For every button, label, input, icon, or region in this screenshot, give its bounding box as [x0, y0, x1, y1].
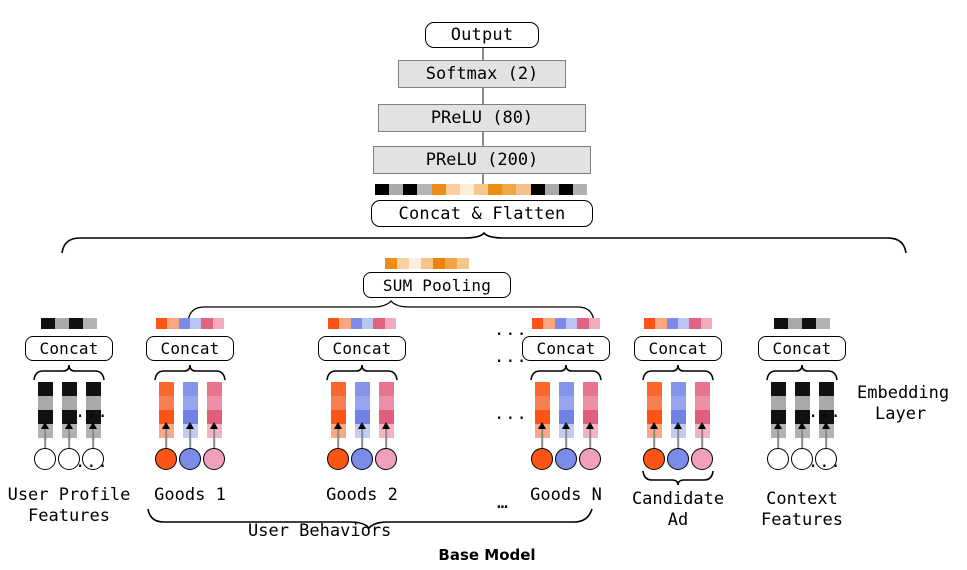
context-features-concat-seg-3	[816, 318, 830, 329]
user-profile-caption-line-1: Features	[0, 506, 159, 527]
context-features-embedding-2-cell-0	[819, 382, 834, 396]
goods-1-caption-line-0: Goods 1	[100, 485, 280, 506]
goods-1-embedding-1-cell-1	[183, 396, 198, 410]
concat-flatten-node[interactable]: Concat & Flatten	[371, 200, 593, 227]
goods-2-feature-node-0[interactable]	[327, 448, 349, 470]
concat-flatten-seg-3	[417, 184, 431, 195]
goods-1-feature-node-1[interactable]	[179, 448, 201, 470]
concat-flatten-vector	[375, 184, 587, 195]
goods-n-concat-label: Concat	[537, 339, 596, 358]
user-profile-embedding-2-cell-0	[86, 382, 101, 396]
goods-n-concat-seg-5	[589, 318, 600, 329]
concat-flatten-seg-9	[502, 184, 516, 195]
goods-n-embedding-2-cell-1	[583, 396, 598, 410]
goods-2-caption-line-0: Goods 2	[272, 485, 452, 506]
goods-2-embedding-0-cell-1	[331, 396, 346, 410]
goods-1-concat-seg-3	[190, 318, 201, 329]
candidate-ad-concat-vector	[644, 318, 712, 329]
ellipsis-emb-goodsN: ...	[494, 406, 528, 423]
goods-2-feature-node-2[interactable]	[375, 448, 397, 470]
diagram-canvas: Output Softmax (2) PReLU (80) PReLU (200…	[0, 0, 967, 570]
layer-prelu-80[interactable]: PReLU (80)	[378, 104, 586, 132]
goods-2-feature-node-1[interactable]	[351, 448, 373, 470]
diagram-title: Base Model	[387, 545, 587, 566]
goods-2-concat-seg-2	[351, 318, 362, 329]
context-features-feature-node-0[interactable]	[767, 448, 789, 470]
candidate-ad-embedding-1-cell-0	[671, 382, 686, 396]
output-label: Output	[451, 25, 514, 45]
context-features-concat-seg-1	[788, 318, 802, 329]
goods-1-concat-seg-2	[179, 318, 190, 329]
sum-pooling-seg-3	[421, 258, 433, 269]
candidate-ad-concat-seg-2	[667, 318, 678, 329]
concat-flatten-seg-12	[545, 184, 559, 195]
goods-2-concat-seg-4	[373, 318, 384, 329]
goods-2-embedding-0-cell-0	[331, 382, 346, 396]
concat-flatten-seg-14	[573, 184, 587, 195]
context-features-concat-label: Concat	[773, 339, 832, 358]
goods-1-concat-seg-0	[156, 318, 167, 329]
goods-2-embedding-2-cell-1	[379, 396, 394, 410]
candidate-ad-feature-node-2[interactable]	[691, 448, 713, 470]
candidate-ad-embedding-0-cell-0	[647, 382, 662, 396]
concat-flatten-seg-13	[559, 184, 573, 195]
user-profile-brace	[32, 363, 106, 381]
context-features-embedding-0-cell-0	[771, 382, 786, 396]
layer-softmax-label: Softmax (2)	[426, 64, 539, 84]
sum-pooling-seg-4	[433, 258, 445, 269]
candidate-ad-concat-seg-3	[678, 318, 689, 329]
concat-flatten-seg-1	[389, 184, 403, 195]
sum-pooling-label: SUM Pooling	[383, 276, 491, 295]
goods-1-embedding-2-cell-0	[207, 382, 222, 396]
goods-2-embedding-1-cell-0	[355, 382, 370, 396]
goods-1-brace	[153, 363, 227, 381]
goods-n-embedding-1-cell-1	[559, 396, 574, 410]
goods-n-embedding-0-cell-0	[535, 382, 550, 396]
ellipsis-top-goodsN: ...	[494, 322, 528, 339]
context-features-inner-ellipsis-embedding: ...	[808, 404, 842, 421]
goods-n-concat-seg-3	[566, 318, 577, 329]
candidate-ad-embedding-1-cell-1	[671, 396, 686, 410]
user-profile-feature-node-0[interactable]	[34, 448, 56, 470]
layer-prelu-200-label: PReLU (200)	[426, 150, 539, 170]
layer-softmax[interactable]: Softmax (2)	[398, 60, 566, 88]
connector-output-softmax	[482, 46, 484, 60]
context-features-concat-seg-2	[802, 318, 816, 329]
goods-n-concat-vector	[532, 318, 600, 329]
user-profile-concat-vector	[41, 318, 97, 329]
goods-n-brace	[529, 363, 603, 381]
goods-1-embedding-0-cell-0	[159, 382, 174, 396]
context-features-concat-node[interactable]: Concat	[758, 336, 846, 361]
user-behaviors-label: User Behaviors	[248, 521, 498, 542]
goods-1-concat-label: Concat	[161, 339, 220, 358]
user-profile-embedding-1-cell-0	[62, 382, 77, 396]
goods-1-embedding-1-cell-0	[183, 382, 198, 396]
context-features-caption-line-0: Context	[712, 489, 892, 510]
concat-flatten-label: Concat & Flatten	[399, 204, 566, 224]
concat-flatten-seg-11	[531, 184, 545, 195]
layer-prelu-80-label: PReLU (80)	[431, 108, 533, 128]
sum-pooling-node[interactable]: SUM Pooling	[363, 272, 511, 298]
sum-pooling-seg-6	[457, 258, 469, 269]
goods-2-concat-vector	[328, 318, 396, 329]
context-features-embedding-1-cell-0	[795, 382, 810, 396]
goods-2-caption: Goods 2	[272, 485, 452, 506]
embedding-layer-label: EmbeddingLayer	[857, 383, 967, 425]
goods-2-brace	[325, 363, 399, 381]
candidate-ad-embedding-2-cell-0	[695, 382, 710, 396]
sum-pooling-seg-2	[409, 258, 421, 269]
candidate-ad-embedding-0-cell-1	[647, 396, 662, 410]
user-profile-concat-seg-3	[83, 318, 97, 329]
goods-n-feature-node-1[interactable]	[555, 448, 577, 470]
user-profile-concat-seg-2	[69, 318, 83, 329]
sum-pooling-seg-0	[385, 258, 397, 269]
goods-n-concat-node[interactable]: Concat	[522, 336, 610, 361]
candidate-ad-embedding-2-cell-1	[695, 396, 710, 410]
goods-1-caption: Goods 1	[100, 485, 280, 506]
layer-prelu-200[interactable]: PReLU (200)	[373, 146, 591, 174]
context-features-embedding-0-cell-1	[771, 396, 786, 410]
context-features-brace	[765, 363, 839, 381]
goods-1-concat-node[interactable]: Concat	[146, 336, 234, 361]
goods-1-concat-seg-5	[213, 318, 224, 329]
sum-pooling-seg-1	[397, 258, 409, 269]
goods-n-embedding-1-cell-0	[559, 382, 574, 396]
candidate-ad-feature-node-0[interactable]	[643, 448, 665, 470]
candidate-ad-concat-node[interactable]: Concat	[634, 336, 722, 361]
goods-n-concat-seg-4	[577, 318, 588, 329]
goods-1-embedding-2-cell-1	[207, 396, 222, 410]
user-profile-inner-ellipsis-nodes: ...	[75, 454, 109, 471]
goods-1-concat-vector	[156, 318, 224, 329]
user-profile-embedding-0-cell-0	[38, 382, 53, 396]
candidate-ad-concat-seg-4	[689, 318, 700, 329]
context-features-inner-ellipsis-nodes: ...	[808, 454, 842, 471]
context-features-caption: ContextFeatures	[712, 489, 892, 531]
goods-n-concat-seg-2	[555, 318, 566, 329]
goods-2-embedding-1-cell-1	[355, 396, 370, 410]
candidate-ad-concat-seg-1	[655, 318, 666, 329]
connector-softmax-prelu80	[482, 88, 484, 104]
context-features-concat-vector	[774, 318, 830, 329]
goods-n-concat-seg-1	[543, 318, 554, 329]
goods-1-concat-seg-1	[167, 318, 178, 329]
concat-flatten-seg-8	[488, 184, 502, 195]
ellipsis-concat-goodsN: ...	[494, 349, 528, 366]
goods-2-concat-node[interactable]: Concat	[318, 336, 406, 361]
concat-flatten-seg-2	[403, 184, 417, 195]
connector-prelu200-concat	[482, 174, 484, 184]
brace-all-columns	[60, 232, 908, 254]
goods-1-concat-seg-4	[201, 318, 212, 329]
goods-2-concat-seg-3	[362, 318, 373, 329]
concat-flatten-seg-4	[432, 184, 446, 195]
concat-flatten-seg-7	[474, 184, 488, 195]
candidate-ad-concat-seg-5	[701, 318, 712, 329]
goods-n-concat-seg-0	[532, 318, 543, 329]
user-profile-concat-label: Concat	[40, 339, 99, 358]
concat-flatten-seg-0	[375, 184, 389, 195]
connector-prelu80-prelu200	[482, 132, 484, 146]
concat-flatten-seg-6	[460, 184, 474, 195]
output-node[interactable]: Output	[425, 22, 539, 48]
goods-2-concat-seg-1	[339, 318, 350, 329]
goods-2-concat-seg-0	[328, 318, 339, 329]
user-profile-embedding-0-cell-1	[38, 396, 53, 410]
brace-candidate-ad	[641, 470, 715, 486]
user-profile-concat-node[interactable]: Concat	[25, 336, 113, 361]
sum-pooling-vector	[385, 258, 469, 269]
candidate-ad-concat-label: Concat	[649, 339, 708, 358]
context-features-caption-line-1: Features	[712, 510, 892, 531]
user-profile-concat-seg-1	[55, 318, 69, 329]
user-profile-inner-ellipsis-embedding: ...	[75, 404, 109, 421]
candidate-ad-concat-seg-0	[644, 318, 655, 329]
goods-2-concat-label: Concat	[333, 339, 392, 358]
goods-n-embedding-0-cell-1	[535, 396, 550, 410]
sum-pooling-seg-5	[445, 258, 457, 269]
user-profile-concat-seg-0	[41, 318, 55, 329]
goods-n-feature-node-0[interactable]	[531, 448, 553, 470]
concat-flatten-seg-5	[446, 184, 460, 195]
candidate-ad-feature-node-1[interactable]	[667, 448, 689, 470]
goods-1-embedding-0-cell-1	[159, 396, 174, 410]
goods-1-feature-node-2[interactable]	[203, 448, 225, 470]
goods-1-feature-node-0[interactable]	[155, 448, 177, 470]
candidate-ad-brace	[641, 363, 715, 381]
goods-2-embedding-2-cell-0	[379, 382, 394, 396]
context-features-concat-seg-0	[774, 318, 788, 329]
goods-n-embedding-2-cell-0	[583, 382, 598, 396]
goods-2-concat-seg-5	[385, 318, 396, 329]
goods-n-feature-node-2[interactable]	[579, 448, 601, 470]
concat-flatten-seg-10	[516, 184, 530, 195]
